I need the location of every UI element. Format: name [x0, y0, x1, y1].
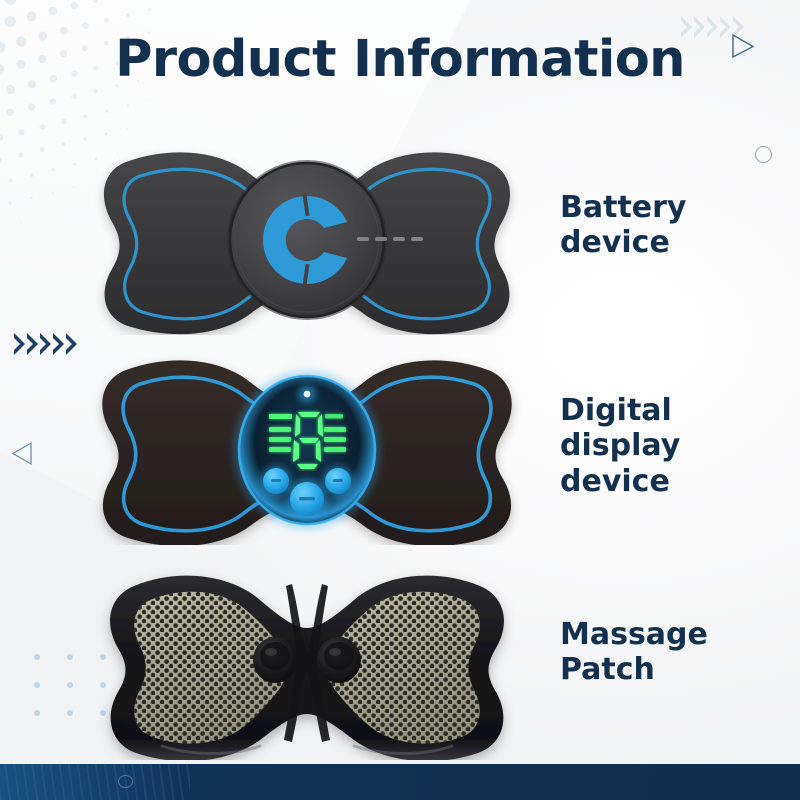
bottom-accent-band — [0, 764, 800, 800]
circle-outline-icon — [755, 146, 772, 163]
page-title: Product Information — [0, 30, 800, 89]
product-information-page: Product Information — [0, 0, 800, 800]
device-image-battery-device — [92, 140, 522, 335]
product-label-massage-patch: Massage Patch — [560, 617, 708, 688]
lcd-left-bars — [269, 427, 291, 452]
grid-dot — [67, 710, 73, 716]
product-row-massage-patch — [92, 560, 522, 755]
button-center-power[interactable] — [286, 478, 328, 520]
device-image-massage-patch — [92, 560, 522, 755]
chevron-right-icon — [40, 333, 51, 355]
lcd-left-label — [269, 414, 292, 419]
chevron-right-icon — [27, 333, 38, 355]
band-ring-icon — [118, 775, 133, 788]
chevron-right-icon — [53, 333, 64, 355]
product-label-battery-device: Battery device — [560, 190, 687, 261]
snap-connector-left — [253, 637, 297, 683]
chevron-right-icon — [66, 333, 77, 355]
grid-dot — [34, 710, 40, 716]
massage-patch-illustration — [92, 560, 522, 760]
lcd-right-label — [325, 414, 343, 419]
product-row-digital-display-device — [92, 350, 522, 545]
product-row-battery-device — [92, 140, 522, 335]
grid-dot — [34, 654, 40, 660]
grid-dot — [67, 682, 73, 688]
triangle-left-outline-icon — [10, 440, 34, 466]
grid-dot — [34, 682, 40, 688]
lcd-right-bars — [324, 427, 346, 452]
snap-connector-right — [317, 637, 361, 683]
battery-device-illustration — [92, 140, 522, 335]
product-label-digital-display-device: Digital display device — [560, 393, 680, 499]
chevron-right-icon — [14, 333, 25, 355]
chevron-group-mid-left — [14, 333, 77, 355]
status-led-icon — [298, 385, 316, 403]
digital-display-device-illustration — [92, 350, 522, 545]
device-image-digital-display-device — [92, 350, 522, 545]
grid-dot — [67, 654, 73, 660]
